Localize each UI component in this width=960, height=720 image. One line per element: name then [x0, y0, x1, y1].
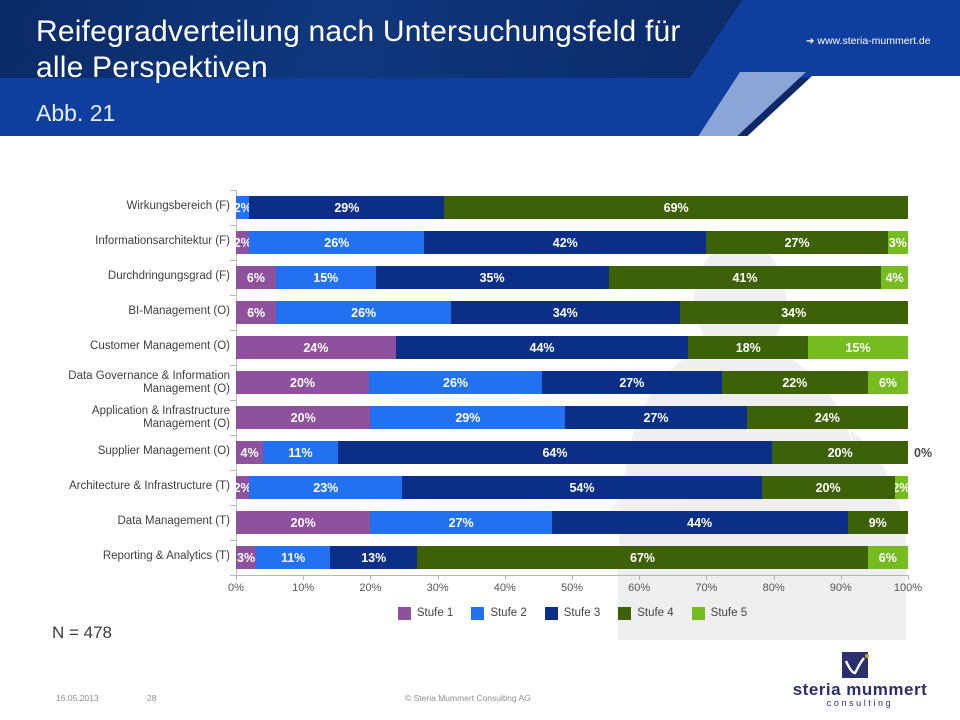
chart-bar: 24%44%18%15%: [236, 336, 908, 359]
chart-bar: 3%11%13%67%6%: [236, 546, 908, 569]
chart-legend-label: Stufe 3: [564, 607, 600, 619]
chart-bar-segment[interactable]: 2%: [236, 476, 249, 499]
chart-plot-area: Wirkungsbereich (F)2%29%69%Informationsa…: [236, 190, 908, 575]
chart-bar-segment[interactable]: 2%: [236, 231, 249, 254]
logo-name: steria mummert: [780, 680, 940, 700]
chart-bar-row: Application & InfrastructureManagement (…: [236, 406, 908, 429]
website-link[interactable]: ➔www.steria-mummert.de: [806, 35, 931, 47]
chart-bar: 20%29%27%24%: [236, 406, 908, 429]
chart-category-label-line: Data Governance & Information: [0, 370, 230, 383]
chart-bar-segment[interactable]: 3%: [888, 231, 908, 254]
chart-bar-row: Data Governance & InformationManagement …: [236, 371, 908, 394]
sample-size-label: N = 478: [52, 623, 112, 643]
chart-category-label: Durchdringungsgrad (F): [0, 270, 230, 283]
chart-bar-segment[interactable]: 6%: [868, 371, 908, 394]
chart-category-label-line: Supplier Management (O): [0, 445, 230, 458]
chart-x-tick-mark: [572, 575, 573, 580]
chart-bar-segment[interactable]: 54%: [402, 476, 761, 499]
chart-bar-segment[interactable]: 9%: [848, 511, 908, 534]
chart-category-label-line: BI-Management (O): [0, 305, 230, 318]
chart-bar-row: Supplier Management (O)4%11%64%20%0%: [236, 441, 908, 464]
chart-x-tick-mark: [639, 575, 640, 580]
chart-y-tick-mark: [230, 575, 236, 576]
footer-copyright: © Steria Mummert Consulting AG: [405, 693, 531, 703]
chart-bar-segment[interactable]: 27%: [706, 231, 887, 254]
chart-legend-swatch: [471, 607, 484, 620]
chart-x-tick-label: 40%: [475, 582, 535, 594]
chart-y-tick-mark: [230, 190, 236, 191]
chart-bar-segment[interactable]: 6%: [236, 301, 276, 324]
chart-bar-row: Customer Management (O)24%44%18%15%: [236, 336, 908, 359]
chart-category-label: Architecture & Infrastructure (T): [0, 480, 230, 493]
chart-x-tick-mark: [908, 575, 909, 580]
chart-bar-outside-label: 0%: [908, 441, 932, 464]
chart-x-tick-label: 50%: [542, 582, 602, 594]
chart-legend-item[interactable]: Stufe 5: [692, 607, 747, 620]
chart-x-tick-label: 100%: [878, 582, 938, 594]
chart-bar-segment[interactable]: 26%: [369, 371, 542, 394]
chart-category-label: Customer Management (O): [0, 340, 230, 353]
chart-bar-segment[interactable]: 29%: [249, 196, 444, 219]
chart-legend-label: Stufe 4: [637, 607, 673, 619]
chart-bar-segment[interactable]: 64%: [338, 441, 772, 464]
chart-bar-segment[interactable]: 24%: [236, 336, 396, 359]
chart-bar-row: Wirkungsbereich (F)2%29%69%: [236, 196, 908, 219]
chart-category-label: Data Management (T): [0, 515, 230, 528]
chart-category-label: Data Governance & InformationManagement …: [0, 370, 230, 396]
chart-bar-segment[interactable]: 6%: [868, 546, 908, 569]
chart-bar-segment[interactable]: 67%: [417, 546, 867, 569]
chart-bar-segment[interactable]: 27%: [370, 511, 551, 534]
chart-y-tick-mark: [230, 435, 236, 436]
chart-bar-segment[interactable]: 20%: [236, 371, 369, 394]
chart-x-tick-label: 30%: [408, 582, 468, 594]
chart-bar-segment[interactable]: 35%: [376, 266, 609, 289]
chart-bar-segment[interactable]: 41%: [609, 266, 882, 289]
chart-x-tick-mark: [774, 575, 775, 580]
chart-bar: 20%27%44%9%: [236, 511, 908, 534]
chart-bar-segment[interactable]: 15%: [808, 336, 908, 359]
chart-y-tick-mark: [230, 470, 236, 471]
chart-bar-segment[interactable]: 20%: [236, 406, 370, 429]
chart-category-label-line: Wirkungsbereich (F): [0, 200, 230, 213]
chart-y-tick-mark: [230, 400, 236, 401]
slide-header: Reifegradverteilung nach Untersuchungsfe…: [0, 0, 960, 152]
chart-legend-swatch: [398, 607, 411, 620]
chart-x-tick-mark: [236, 575, 237, 580]
chart-bar-segment[interactable]: 27%: [542, 371, 722, 394]
chart-y-tick-mark: [230, 330, 236, 331]
chart-bar: 6%26%34%34%: [236, 301, 908, 324]
chart-bar-segment[interactable]: 24%: [747, 406, 908, 429]
chart-bar: 2%29%69%: [236, 196, 908, 219]
chart-x-tick-mark: [841, 575, 842, 580]
chart-bar-segment[interactable]: 44%: [552, 511, 848, 534]
chart-category-label-line: Management (O): [0, 383, 230, 396]
chart-bar-segment[interactable]: 4%: [236, 441, 263, 464]
chart-bar-segment[interactable]: 2%: [236, 196, 249, 219]
chart-x-tick-mark: [505, 575, 506, 580]
chart-x-tick-mark: [370, 575, 371, 580]
chart-category-label-line: Reporting & Analytics (T): [0, 550, 230, 563]
chart-x-tick-label: 70%: [676, 582, 736, 594]
chart-x-tick-label: 0%: [206, 582, 266, 594]
chart-y-tick-mark: [230, 365, 236, 366]
page-title: Reifegradverteilung nach Untersuchungsfe…: [36, 14, 696, 86]
chart-legend-item[interactable]: Stufe 2: [471, 607, 526, 620]
header-white-strip: [0, 136, 960, 152]
chart-bar-segment[interactable]: 29%: [370, 406, 565, 429]
chart-category-label: BI-Management (O): [0, 305, 230, 318]
chart-x-tick-label: 20%: [340, 582, 400, 594]
chart-bar-segment[interactable]: 3%: [236, 546, 256, 569]
chart-bar-row: Data Management (T)20%27%44%9%: [236, 511, 908, 534]
chart-x-tick-label: 80%: [744, 582, 804, 594]
company-logo: steria mummert consulting: [780, 652, 940, 708]
chart-category-label: Wirkungsbereich (F): [0, 200, 230, 213]
chart-x-tick-label: 10%: [273, 582, 333, 594]
chart-category-label-line: Architecture & Infrastructure (T): [0, 480, 230, 493]
chart-bar-segment[interactable]: 11%: [256, 546, 330, 569]
chart-bar-segment[interactable]: 26%: [249, 231, 424, 254]
chart-bar-segment[interactable]: 69%: [444, 196, 908, 219]
chart-bar-segment[interactable]: 27%: [565, 406, 746, 429]
chart-bar-segment[interactable]: 11%: [263, 441, 338, 464]
chart-category-label-line: Management (O): [0, 418, 230, 431]
chart-category-label-line: Data Management (T): [0, 515, 230, 528]
chart-bar: 20%26%27%22%6%: [236, 371, 908, 394]
chart-x-tick-mark: [303, 575, 304, 580]
chart-x-tick-mark: [706, 575, 707, 580]
chart-legend-swatch: [545, 607, 558, 620]
chart-y-tick-mark: [230, 295, 236, 296]
chart-category-label-line: Customer Management (O): [0, 340, 230, 353]
chart-x-tick-label: 60%: [609, 582, 669, 594]
chart-category-label-line: Application & Infrastructure: [0, 405, 230, 418]
chart-legend-label: Stufe 1: [417, 607, 453, 619]
chart-bar-segment[interactable]: 15%: [276, 266, 376, 289]
chart-x-tick-label: 90%: [811, 582, 871, 594]
chart-category-label: Supplier Management (O): [0, 445, 230, 458]
chart-bar-segment[interactable]: 26%: [276, 301, 451, 324]
chart-bar-rows: Wirkungsbereich (F)2%29%69%Informationsa…: [236, 190, 908, 575]
chart-y-tick-mark: [230, 225, 236, 226]
chart-bar-segment[interactable]: 20%: [236, 511, 370, 534]
chart-bar-segment[interactable]: 18%: [688, 336, 808, 359]
figure-number: Abb. 21: [36, 100, 115, 127]
chart-bar-segment[interactable]: 20%: [762, 476, 895, 499]
chart-bar-segment[interactable]: 42%: [424, 231, 706, 254]
chart-category-label-line: Durchdringungsgrad (F): [0, 270, 230, 283]
chart-legend: Stufe 1Stufe 2Stufe 3Stufe 4Stufe 5: [236, 603, 909, 623]
chart-bar-segment[interactable]: 34%: [680, 301, 908, 324]
chart-bar-segment[interactable]: 4%: [881, 266, 908, 289]
chart-bar: 2%23%54%20%2%: [236, 476, 908, 499]
logo-tagline: consulting: [780, 698, 940, 708]
chart-legend-item[interactable]: Stufe 4: [618, 607, 673, 620]
chart-x-tick-mark: [438, 575, 439, 580]
chart-bar: 6%15%35%41%4%: [236, 266, 908, 289]
chart-bar: 2%26%42%27%3%: [236, 231, 908, 254]
chart-bar-segment[interactable]: 44%: [396, 336, 689, 359]
chart-category-label: Application & InfrastructureManagement (…: [0, 405, 230, 431]
chart-bar-segment[interactable]: 20%: [772, 441, 908, 464]
logo-accent-dot-icon: [865, 654, 869, 658]
chart-legend-item[interactable]: Stufe 1: [398, 607, 453, 620]
chart-bar: 4%11%64%20%: [236, 441, 908, 464]
chart-category-label-line: Informationsarchitektur (F): [0, 235, 230, 248]
chart-y-tick-mark: [230, 505, 236, 506]
chart-bar-row: Reporting & Analytics (T)3%11%13%67%6%: [236, 546, 908, 569]
footer-page-number: 28: [147, 693, 156, 703]
chart-bar-segment[interactable]: 23%: [249, 476, 402, 499]
chart-legend-label: Stufe 2: [490, 607, 526, 619]
chart-bar-row: Architecture & Infrastructure (T)2%23%54…: [236, 476, 908, 499]
chart-bar-segment[interactable]: 34%: [451, 301, 679, 324]
chart-category-label: Informationsarchitektur (F): [0, 235, 230, 248]
chart-legend-item[interactable]: Stufe 3: [545, 607, 600, 620]
chart-bar-row: BI-Management (O)6%26%34%34%: [236, 301, 908, 324]
website-url-text: www.steria-mummert.de: [817, 35, 930, 47]
header-lower-band: [0, 78, 780, 136]
footer-date: 16.05.2013: [56, 693, 99, 703]
arrow-right-icon: ➔: [806, 36, 814, 47]
chart-bar-segment[interactable]: 2%: [895, 476, 908, 499]
chart-legend-swatch: [692, 607, 705, 620]
chart-legend-swatch: [618, 607, 631, 620]
chart-bar-segment[interactable]: 22%: [722, 371, 868, 394]
chart-bar-row: Informationsarchitektur (F)2%26%42%27%3%: [236, 231, 908, 254]
chart-bar-segment[interactable]: 13%: [330, 546, 417, 569]
chart-legend-label: Stufe 5: [711, 607, 747, 619]
chart-category-label: Reporting & Analytics (T): [0, 550, 230, 563]
chart-y-tick-mark: [230, 540, 236, 541]
chart-bar-row: Durchdringungsgrad (F)6%15%35%41%4%: [236, 266, 908, 289]
chart-y-tick-mark: [230, 260, 236, 261]
stacked-bar-chart: Wirkungsbereich (F)2%29%69%Informationsa…: [0, 160, 960, 610]
chart-bar-segment[interactable]: 6%: [236, 266, 276, 289]
